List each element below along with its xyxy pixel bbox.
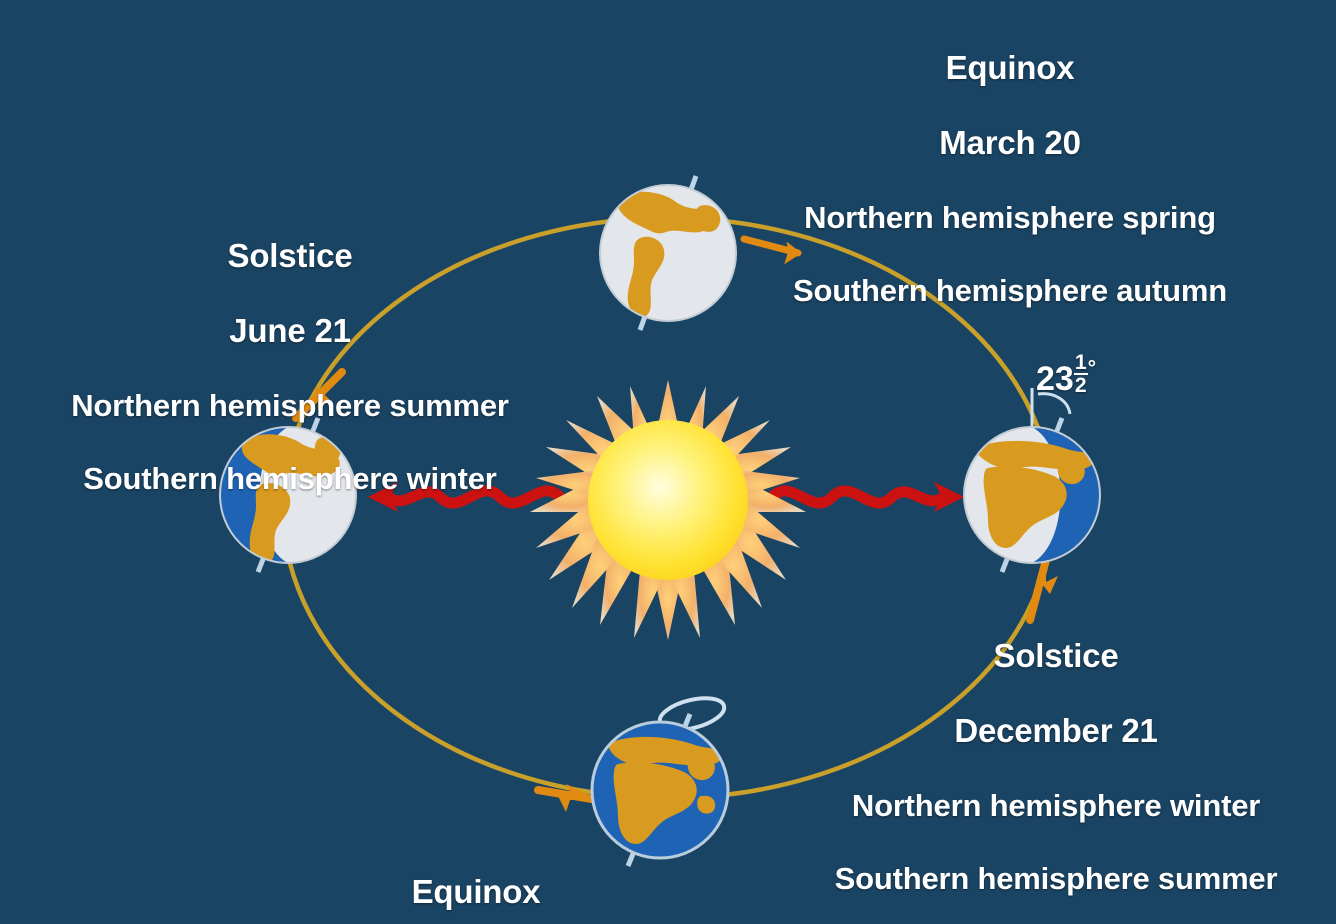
label-march-equinox: Equinox March 20 Northern hemisphere spr…	[740, 12, 1280, 346]
tilt-fraction: 12	[1074, 352, 1088, 396]
label-september-equinox: Equinox September 22	[266, 836, 686, 924]
label-june-north: Northern hemisphere summer	[0, 388, 580, 424]
label-march-event: Equinox	[740, 49, 1280, 87]
tilt-degree-symbol: °	[1088, 357, 1096, 380]
tilt-numerator: 1	[1074, 352, 1088, 375]
label-december-event: Solstice	[786, 637, 1326, 675]
label-december-solstice: Solstice December 21 Northern hemisphere…	[786, 600, 1326, 924]
sunray-right	[772, 482, 964, 512]
label-december-date: December 21	[786, 712, 1326, 750]
axial-tilt-label: 2312°	[1036, 352, 1096, 399]
sun-core	[588, 420, 748, 580]
label-march-north: Northern hemisphere spring	[740, 200, 1280, 236]
earth-march	[600, 176, 736, 330]
tilt-whole: 23	[1036, 360, 1074, 398]
label-june-event: Solstice	[0, 237, 580, 275]
label-june-solstice: Solstice June 21 Northern hemisphere sum…	[0, 200, 580, 534]
tilt-denominator: 2	[1074, 375, 1088, 396]
label-december-north: Northern hemisphere winter	[786, 788, 1326, 824]
label-december-south: Southern hemisphere summer	[786, 861, 1326, 897]
label-march-south: Southern hemisphere autumn	[740, 273, 1280, 309]
earth-december	[964, 388, 1112, 580]
label-march-date: March 20	[740, 124, 1280, 162]
label-june-south: Southern hemisphere winter	[0, 461, 580, 497]
label-june-date: June 21	[0, 312, 580, 350]
seasons-diagram: Equinox March 20 Northern hemisphere spr…	[0, 0, 1336, 924]
label-september-event: Equinox	[266, 873, 686, 911]
